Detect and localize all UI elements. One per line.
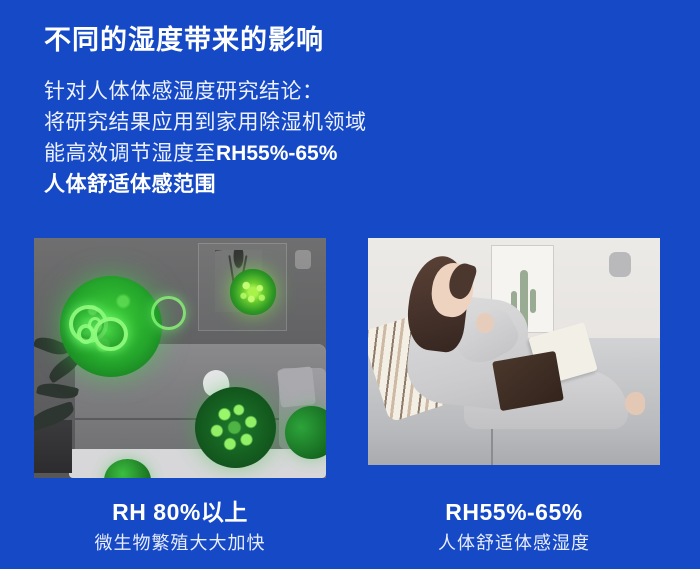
photo-panel-comfort-humidity [368, 238, 660, 465]
body-line-3-emphasis: RH55%-65% [216, 142, 337, 165]
body-line-2: 将研究结果应用到家用除湿机领域 [44, 107, 544, 138]
caption-comfort-humidity: RH55%-65% 人体舒适体感湿度 [368, 498, 660, 555]
woman-hand [476, 313, 494, 333]
microbe-ring-small [151, 296, 186, 331]
dim-room-scene [34, 238, 326, 478]
body-line-4: 人体舒适体感范围 [44, 169, 544, 200]
humidity-infographic-poster: 不同的湿度带来的影响 针对人体体感湿度研究结论： 将研究结果应用到家用除湿机领域… [0, 0, 700, 569]
body-line-3: 能高效调节湿度至RH55%-65% [44, 138, 544, 169]
plant-leaf [36, 380, 79, 403]
body-copy-block: 针对人体体感湿度研究结论： 将研究结果应用到家用除湿机领域 能高效调节湿度至RH… [44, 76, 544, 200]
thermostat-icon [295, 250, 311, 269]
caption-right-subtitle: 人体舒适体感湿度 [368, 531, 660, 555]
sofa-cushion [277, 366, 316, 408]
microbe-ring [88, 317, 102, 333]
microbe-sphere-bright [230, 269, 277, 315]
caption-high-humidity: RH 80%以上 微生物繁殖大大加快 [34, 498, 326, 555]
caption-left-title: RH 80%以上 [34, 498, 326, 526]
thermostat-icon [609, 252, 631, 277]
caption-left-subtitle: 微生物繁殖大大加快 [34, 531, 326, 555]
woman-foot [625, 392, 645, 415]
microbe-sphere-dark [195, 387, 277, 469]
microbe-cluster-large [60, 276, 162, 377]
caption-right-title: RH55%-65% [368, 498, 660, 526]
cactus-arm-right [530, 289, 536, 313]
bright-room-scene [368, 238, 660, 465]
body-line-3-prefix: 能高效调节湿度至 [44, 142, 216, 165]
body-line-1: 针对人体体感湿度研究结论： [44, 76, 544, 107]
page-title: 不同的湿度带来的影响 [44, 18, 324, 57]
photo-panel-high-humidity [34, 238, 326, 478]
